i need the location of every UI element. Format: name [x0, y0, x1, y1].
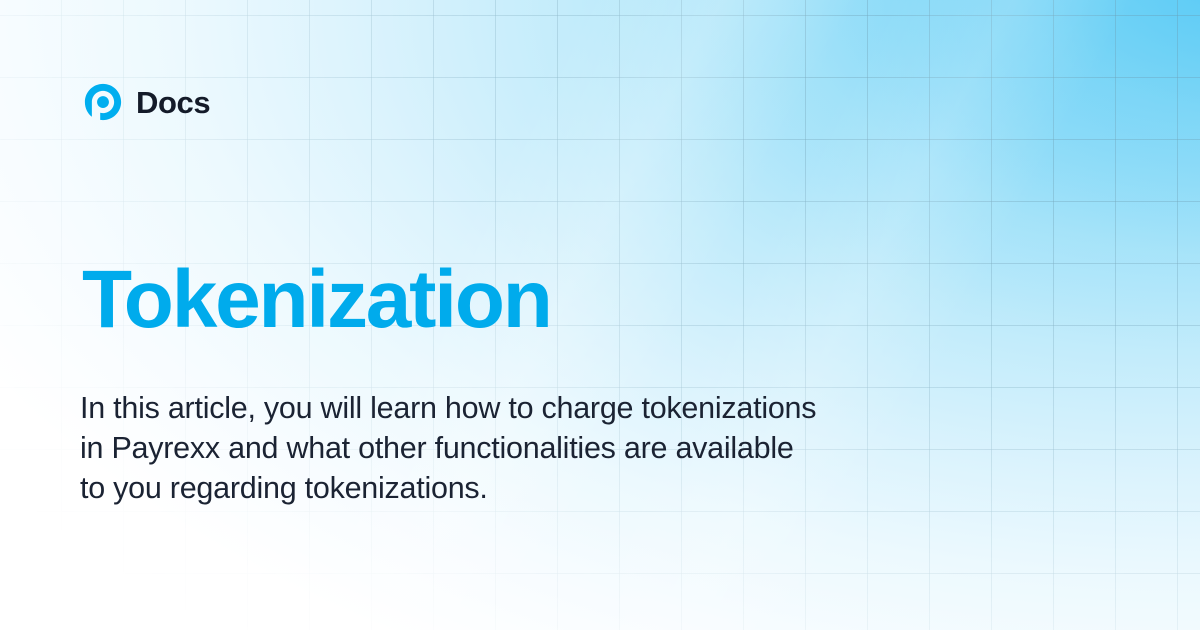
banner-canvas: Docs Tokenization In this article, you w… — [0, 0, 1200, 630]
page-title: Tokenization — [82, 258, 551, 342]
brand-lockup[interactable]: Docs — [84, 83, 210, 121]
page-description: In this article, you will learn how to c… — [80, 388, 820, 508]
payrexx-p-logo-icon — [84, 83, 122, 121]
banner-content: Docs Tokenization In this article, you w… — [0, 0, 1200, 630]
brand-name-label: Docs — [136, 87, 210, 118]
